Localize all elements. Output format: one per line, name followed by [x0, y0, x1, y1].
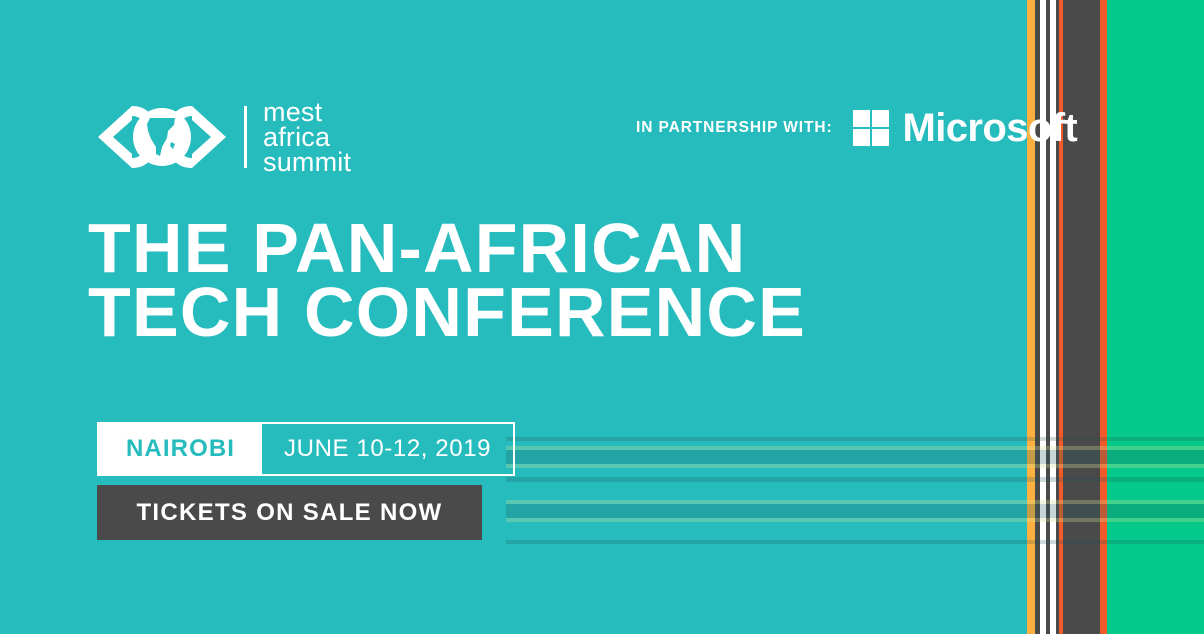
- vertical-stripe-orange-stripe: [1100, 0, 1107, 634]
- partnership-label: IN PARTNERSHIP WITH:: [636, 119, 833, 137]
- microsoft-squares-icon: [853, 110, 889, 146]
- logo-word-summit: summit: [263, 150, 351, 175]
- headline-line-2: TECH CONFERENCE: [88, 280, 806, 344]
- logo-word-mest: mest: [263, 100, 351, 125]
- logo-divider: [244, 106, 247, 168]
- vertical-stripe-teal-gap: [1010, 0, 1027, 634]
- event-banner: mest africa summit IN PARTNERSHIP WITH: …: [0, 0, 1204, 634]
- tickets-on-sale-button[interactable]: TICKETS ON SALE NOW: [97, 485, 482, 540]
- logo-wordmark: mest africa summit: [263, 100, 351, 175]
- vertical-stripe-yellow-stripe: [1027, 0, 1035, 634]
- decorative-vertical-stripes: [1010, 0, 1204, 634]
- mest-africa-eye-logo-icon: [88, 104, 236, 170]
- microsoft-logo[interactable]: Microsoft: [853, 108, 1078, 148]
- mest-africa-summit-logo[interactable]: mest africa summit: [88, 96, 351, 178]
- microsoft-wordmark: Microsoft: [903, 108, 1078, 148]
- headline-line-1: THE PAN-AFRICAN: [88, 216, 806, 280]
- vertical-stripe-green-block: [1107, 0, 1204, 634]
- logo-word-africa: africa: [263, 125, 351, 150]
- event-dates: JUNE 10-12, 2019: [262, 424, 513, 474]
- event-info-badge: NAIROBI JUNE 10-12, 2019: [97, 422, 515, 476]
- vertical-stripe-gray-block: [1063, 0, 1100, 634]
- page-title: THE PAN-AFRICAN TECH CONFERENCE: [88, 216, 806, 344]
- event-city: NAIROBI: [99, 424, 262, 474]
- partnership-lockup: IN PARTNERSHIP WITH: Microsoft: [636, 104, 1077, 152]
